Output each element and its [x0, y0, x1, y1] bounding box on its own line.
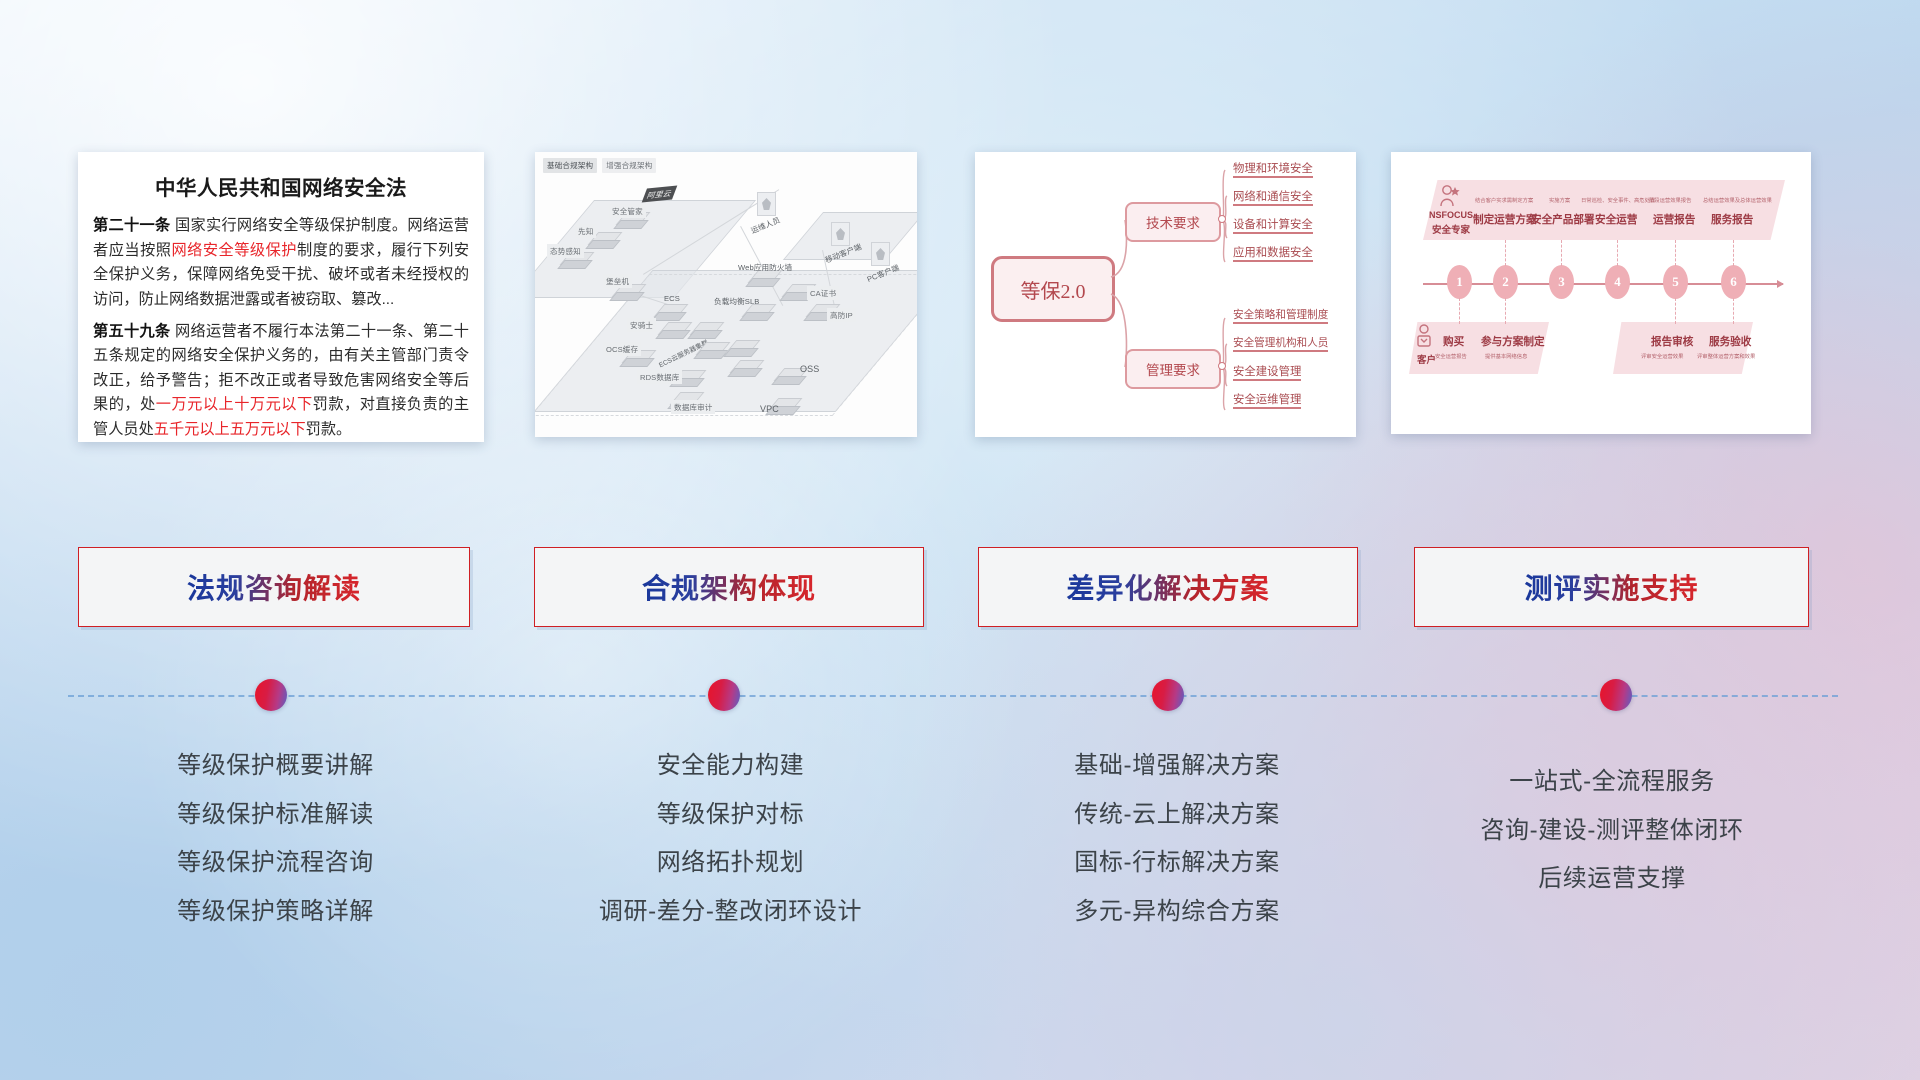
step-2-title: 制定运营方案 — [1473, 212, 1537, 227]
timeline-node-6[interactable]: 6 — [1721, 265, 1746, 299]
lead-line-3 — [1561, 240, 1562, 266]
mindmap-leaf-network: 网络和通信安全 — [1233, 188, 1313, 206]
bottom-step-3-title: 报告审核 — [1651, 334, 1693, 349]
node-label-ca: CA证书 — [807, 286, 839, 300]
mindmap-leaf-physical: 物理和环境安全 — [1233, 160, 1313, 178]
step-4-sub: 日常巡检、安全事件、高危处置 — [1581, 196, 1655, 204]
list-item: 多元-异构综合方案 — [977, 888, 1377, 937]
timeline-node-1[interactable]: 1 — [1447, 265, 1472, 299]
architecture-canvas: 基础合规架构 增强合规架构 阿里云 安全管家 先知 态势感知 堡垒机 ECS 安… — [535, 152, 917, 437]
node-label-slb: 负载均衡SLB — [711, 294, 762, 308]
law-article-label-21: 第二十一条 — [93, 217, 170, 234]
timeline-bullet-2[interactable] — [708, 679, 740, 711]
law-body: 中华人民共和国网络安全法 第二十一条 国家实行网络安全等级保护制度。网络运营者应… — [78, 152, 484, 442]
step-4-title: 安全运营 — [1595, 212, 1637, 227]
list-item: 传统-云上解决方案 — [977, 791, 1377, 840]
icon-doc-mobile-client — [831, 222, 850, 246]
node-label-xianzhi: 先知 — [575, 224, 596, 238]
mindmap-leaf-application: 应用和数据安全 — [1233, 244, 1313, 262]
law-article-label-59: 第五十九条 — [93, 323, 170, 340]
heading-label-3: 差异化解决方案 — [1066, 567, 1269, 607]
lead-line-6 — [1733, 240, 1734, 266]
bottom-step-1-sub: 安全运营报告 — [1435, 352, 1467, 360]
mindmap-branch-management: 管理要求 — [1125, 349, 1221, 389]
heading-box-differentiated-solution[interactable]: 差异化解决方案 — [978, 547, 1358, 627]
timeline-bullet-3[interactable] — [1152, 679, 1184, 711]
lead-line-b2 — [1505, 298, 1506, 324]
list-item: 等级保护概要讲解 — [78, 742, 473, 791]
list-differentiated-solution: 基础-增强解决方案 传统-云上解决方案 国标-行标解决方案 多元-异构综合方案 — [977, 742, 1377, 937]
service-timeline-canvas: NSFOCUS 安全专家 客户 1 2 3 4 5 6 结合客户实求需制定方案 … — [1391, 152, 1811, 434]
step-3-title: 安全产品部署 — [1531, 212, 1595, 227]
lead-line-b1 — [1459, 298, 1460, 324]
law-paragraph-21: 第二十一条 国家实行网络安全等级保护制度。网络运营者应当按照网络安全等级保护制度… — [93, 214, 469, 313]
law-highlight-59b: 五千元以上五万元以下 — [154, 421, 306, 438]
list-item: 基础-增强解决方案 — [977, 742, 1377, 791]
law-paragraph-59: 第五十九条 网络运营者不履行本法第二十一条、第二十五条规定的网络安全保护义务的，… — [93, 320, 469, 443]
lead-line-4 — [1617, 240, 1618, 266]
tab-enhanced-compliance[interactable]: 增强合规架构 — [602, 158, 656, 173]
step-2-sub: 结合客户实求需制定方案 — [1475, 196, 1533, 204]
node-label-anti-ddos: 高防IP — [827, 308, 856, 322]
step-5-title: 运营报告 — [1653, 212, 1695, 227]
node-label-rds: RDS数据库 — [637, 370, 682, 384]
law-highlight-59a: 一万元以上十万元以下 — [156, 396, 313, 413]
icon-doc-ops-staff — [757, 192, 776, 216]
list-item: 等级保护标准解读 — [78, 791, 473, 840]
law-highlight-21: 网络安全等级保护 — [171, 242, 297, 259]
timeline-bullet-1[interactable] — [255, 679, 287, 711]
node-label-situation-awareness: 态势感知 — [547, 244, 584, 258]
customer-label: 客户 — [1417, 352, 1436, 366]
heading-box-compliance-architecture[interactable]: 合规架构体现 — [534, 547, 924, 627]
heading-label-1: 法规咨询解读 — [187, 567, 361, 607]
icon-cube-cluster-c — [731, 340, 761, 360]
timeline-node-3[interactable]: 3 — [1549, 265, 1574, 299]
icon-cube-ecs — [659, 304, 689, 324]
list-item: 一站式-全流程服务 — [1412, 758, 1812, 807]
tab-basic-compliance[interactable]: 基础合规架构 — [543, 158, 597, 173]
icon-cube-anqishi — [663, 322, 693, 342]
timeline-dashed-line — [68, 695, 1838, 697]
node-label-ecs: ECS — [661, 292, 683, 304]
heading-label-4: 测评实施支持 — [1524, 567, 1698, 607]
expert-icon — [1439, 184, 1461, 210]
band-expert-row — [1423, 180, 1785, 240]
node-label-security-steward: 安全管家 — [609, 204, 646, 218]
list-item: 国标-行标解决方案 — [977, 839, 1377, 888]
list-item: 咨询-建设-测评整体闭环 — [1412, 807, 1812, 856]
lead-line-5 — [1675, 240, 1676, 266]
bottom-step-1-title: 购买 — [1443, 334, 1464, 349]
list-regulation-consulting: 等级保护概要讲解 等级保护标准解读 等级保护流程咨询 等级保护策略详解 — [78, 742, 473, 937]
step-6-sub: 总结运营效果及总体运营效果 — [1703, 196, 1772, 204]
lead-line-2 — [1505, 240, 1506, 266]
step-6-title: 服务报告 — [1711, 212, 1753, 227]
list-item: 等级保护策略详解 — [78, 888, 473, 937]
node-label-oss: OSS — [797, 362, 822, 375]
mindmap-collapse-dot-technical[interactable] — [1218, 215, 1226, 223]
card-service-timeline: NSFOCUS 安全专家 客户 1 2 3 4 5 6 结合客户实求需制定方案 … — [1391, 152, 1811, 434]
node-label-db-audit: 数据库审计 — [671, 400, 715, 414]
card-law-text: 中华人民共和国网络安全法 第二十一条 国家实行网络安全等级保护制度。网络运营者应… — [78, 152, 484, 442]
bottom-step-4-sub: 评审整体运营方案和效果 — [1697, 352, 1755, 360]
mindmap-collapse-dot-management[interactable] — [1218, 362, 1226, 370]
card-architecture-diagram: 基础合规架构 增强合规架构 阿里云 安全管家 先知 态势感知 堡垒机 ECS 安… — [535, 152, 917, 437]
list-evaluation-support: 一站式-全流程服务 咨询-建设-测评整体闭环 后续运营支撑 — [1412, 758, 1812, 904]
bottom-step-3-sub: 评审安全运营效果 — [1641, 352, 1683, 360]
mindmap-leaf-device: 设备和计算安全 — [1233, 216, 1313, 234]
expert-name-line1: NSFOCUS — [1429, 210, 1473, 220]
list-item: 等级保护流程咨询 — [78, 839, 473, 888]
mindmap-leaf-org: 安全管理机构和人员 — [1233, 335, 1328, 352]
heading-box-regulation-consulting[interactable]: 法规咨询解读 — [78, 547, 470, 627]
icon-cube-cluster-a — [695, 322, 725, 342]
timeline-node-4[interactable]: 4 — [1605, 265, 1630, 299]
expert-name-line2: 安全专家 — [1432, 222, 1470, 236]
list-item: 后续运营支撑 — [1412, 855, 1812, 904]
architecture-tabs: 基础合规架构 增强合规架构 — [543, 158, 656, 173]
heading-box-evaluation-support[interactable]: 测评实施支持 — [1414, 547, 1809, 627]
list-item: 网络拓扑规划 — [533, 839, 928, 888]
bottom-step-4-title: 服务验收 — [1709, 334, 1751, 349]
heading-label-2: 合规架构体现 — [642, 567, 816, 607]
mindmap-leaf-operations: 安全运维管理 — [1233, 391, 1301, 409]
card-mindmap: 等保2.0 技术要求 管理要求 物理和环境安全 网络和通信安全 设备和计算安全 … — [975, 152, 1356, 437]
list-item: 等级保护对标 — [533, 791, 928, 840]
law-title: 中华人民共和国网络安全法 — [93, 171, 469, 201]
customer-icon — [1415, 324, 1435, 350]
timeline-node-2[interactable]: 2 — [1493, 265, 1518, 299]
icon-cube-cluster-d — [735, 360, 765, 380]
mindmap-leaf-construction: 安全建设管理 — [1233, 363, 1301, 381]
lead-line-b6 — [1733, 298, 1734, 324]
node-label-vpc: VPC — [757, 402, 782, 415]
list-compliance-architecture: 安全能力构建 等级保护对标 网络拓扑规划 调研-差分-整改闭环设计 — [533, 742, 928, 937]
bottom-step-2-sub: 提供基本网络信息 — [1485, 352, 1527, 360]
node-label-bastion: 堡垒机 — [603, 274, 632, 288]
node-label-ocs: OCS缓存 — [603, 342, 641, 356]
bottom-step-2-title: 参与方案制定 — [1481, 334, 1545, 349]
law-text-59c: 罚款。 — [306, 421, 352, 438]
mindmap-canvas: 等保2.0 技术要求 管理要求 物理和环境安全 网络和通信安全 设备和计算安全 … — [975, 152, 1356, 437]
node-label-waf: Web应用防火墙 — [735, 260, 795, 274]
timeline-node-5[interactable]: 5 — [1663, 265, 1688, 299]
mindmap-leaf-policy: 安全策略和管理制度 — [1233, 307, 1328, 324]
list-item: 调研-差分-整改闭环设计 — [533, 888, 928, 937]
list-item: 安全能力构建 — [533, 742, 928, 791]
step-3-sub: 实施方案 — [1549, 196, 1570, 204]
step-5-sub: 阶段运营效果报告 — [1649, 196, 1691, 204]
node-label-anqishi: 安骑士 — [627, 318, 656, 332]
lead-line-b5 — [1675, 298, 1676, 324]
icon-cube-xianzhi — [593, 232, 623, 252]
mindmap-branch-technical: 技术要求 — [1125, 202, 1221, 242]
timeline-bullet-4[interactable] — [1600, 679, 1632, 711]
